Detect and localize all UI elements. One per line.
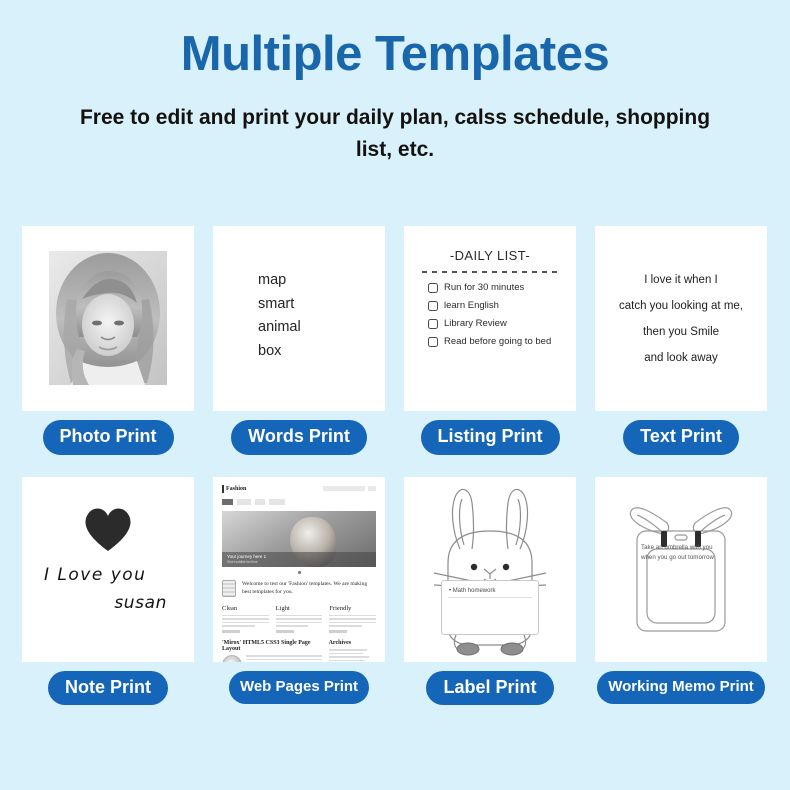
web-nav-item-about[interactable]	[237, 499, 251, 505]
checkbox-icon[interactable]	[428, 283, 438, 293]
web-archives-lines	[329, 649, 376, 661]
checklist-item[interactable]: Read before going to bed	[428, 336, 562, 347]
heart-icon	[80, 505, 136, 558]
web-nav-item-home[interactable]	[222, 499, 233, 505]
card-photo-print[interactable]	[22, 226, 194, 411]
checklist-label: Read before going to bed	[444, 336, 551, 347]
memo-badge-illustration	[595, 477, 767, 662]
text-print-button-wrap: Text Print	[595, 420, 767, 455]
web-archives-block: Archives	[329, 640, 376, 662]
web-article-lines	[246, 655, 322, 662]
search-icon[interactable]	[368, 486, 376, 491]
page-subtitle: Free to edit and print your daily plan, …	[0, 102, 790, 167]
web-nav	[222, 499, 376, 505]
words-print-button[interactable]: Words Print	[231, 420, 367, 455]
bunny-note-label: Math homework	[453, 588, 496, 594]
search-input[interactable]	[323, 486, 365, 491]
carousel-dot-icon[interactable]	[298, 571, 301, 574]
photo-print-button[interactable]: Photo Print	[43, 420, 174, 455]
template-cell-listing-print: -DAILY LIST- Run for 30 minutes learn En…	[404, 226, 576, 455]
article-thumbnail	[222, 655, 242, 662]
text-line: catch you looking at me,	[619, 300, 743, 312]
text-line: I love it when I	[644, 274, 718, 286]
web-welcome-block: Welcome to test our 'Fashion' templates.…	[222, 580, 376, 597]
web-archives-heading: Archives	[329, 640, 376, 646]
hero-caption-title: Your journey here 1	[227, 554, 266, 559]
card-note-print[interactable]: I Love you susan	[22, 477, 194, 662]
words-print-button-wrap: Words Print	[213, 420, 385, 455]
web-article-block: 'Mirox' HTML5 CSS3 Single Page Layout	[222, 640, 322, 662]
label-print-button-wrap: Label Print	[404, 671, 576, 706]
read-more-link[interactable]	[222, 630, 240, 633]
word-item: animal	[258, 316, 301, 340]
web-pages-print-button-wrap: Web Pages Print	[213, 671, 385, 704]
checkbox-icon[interactable]	[428, 337, 438, 347]
photo-frame	[39, 240, 177, 396]
bunny-note-box: • Math homework	[441, 580, 539, 635]
card-listing-print[interactable]: -DAILY LIST- Run for 30 minutes learn En…	[404, 226, 576, 411]
web-nav-item-contact[interactable]	[255, 499, 265, 505]
checklist-item[interactable]: learn English	[428, 300, 562, 311]
note-line-1: I Love you	[44, 565, 146, 585]
card-text-print[interactable]: I love it when I catch you looking at me…	[595, 226, 767, 411]
template-cell-photo-print: Photo Print	[22, 226, 194, 455]
daily-list: -DAILY LIST- Run for 30 minutes learn En…	[418, 248, 562, 354]
word-item: map	[258, 269, 301, 293]
portrait-photo	[49, 251, 167, 385]
card-web-pages-print[interactable]: Fashion Your journey here 1	[213, 477, 385, 662]
hero-caption-sub: Short subtitle text line	[227, 560, 257, 564]
web-hero-image: Your journey here 1 Short subtitle text …	[222, 511, 376, 567]
web-site-name: Fashion	[226, 486, 246, 492]
template-cell-web-pages-print: Fashion Your journey here 1	[213, 477, 385, 706]
photo-print-button-wrap: Photo Print	[22, 420, 194, 455]
web-column-lines	[276, 615, 323, 627]
template-cell-words-print: map smart animal box Words Print	[213, 226, 385, 455]
checkbox-icon[interactable]	[428, 301, 438, 311]
text-print-button[interactable]: Text Print	[623, 420, 739, 455]
web-column-title: Friendly	[329, 605, 376, 612]
bunny-note-text: • Math homework	[449, 588, 538, 594]
text-line: and look away	[644, 352, 718, 364]
working-memo-print-button-wrap: Working Memo Print	[595, 671, 767, 704]
daily-list-title: -DAILY LIST-	[418, 248, 562, 263]
word-item: box	[258, 340, 301, 364]
note-line-2: susan	[114, 593, 167, 613]
text-line: then you Smile	[643, 326, 719, 338]
web-column-title: Clean	[222, 605, 269, 612]
label-print-button[interactable]: Label Print	[426, 671, 553, 706]
listing-print-button[interactable]: Listing Print	[421, 420, 560, 455]
template-cell-label-print: • Math homework Label Print	[404, 477, 576, 706]
web-welcome-text: Welcome to test our 'Fashion' templates.…	[242, 580, 376, 597]
checklist-label: Run for 30 minutes	[444, 282, 524, 293]
bullet-icon: •	[449, 588, 451, 594]
note-print-button-wrap: Note Print	[22, 671, 194, 706]
template-grid: Photo Print map smart animal box Words P…	[22, 226, 768, 705]
note-rule	[448, 597, 532, 598]
checklist-label: learn English	[444, 300, 499, 311]
working-memo-print-button[interactable]: Working Memo Print	[597, 671, 765, 704]
page-header: Multiple Templates Free to edit and prin…	[0, 0, 790, 167]
checklist-item[interactable]: Run for 30 minutes	[428, 282, 562, 293]
card-working-memo-print[interactable]: Take an umbrella with you when you go ou…	[595, 477, 767, 662]
webpage-preview: Fashion Your journey here 1	[213, 477, 385, 662]
web-feature-column: Clean	[222, 605, 269, 633]
dashed-divider	[422, 271, 558, 273]
word-list: map smart animal box	[258, 269, 301, 364]
web-article-heading: 'Mirox' HTML5 CSS3 Single Page Layout	[222, 640, 322, 652]
checkbox-icon[interactable]	[428, 319, 438, 329]
template-cell-note-print: I Love you susan Note Print	[22, 477, 194, 706]
card-label-print[interactable]: • Math homework	[404, 477, 576, 662]
memo-text: Take an umbrella with you when you go ou…	[641, 543, 726, 565]
document-icon	[222, 580, 236, 597]
web-nav-item-portfolio[interactable]	[269, 499, 285, 505]
web-feature-column: Light	[276, 605, 323, 633]
checklist-label: Library Review	[444, 318, 507, 329]
template-cell-text-print: I love it when I catch you looking at me…	[595, 226, 767, 455]
checklist-item[interactable]: Library Review	[428, 318, 562, 329]
web-pages-print-button[interactable]: Web Pages Print	[229, 671, 369, 704]
page-title: Multiple Templates	[0, 28, 790, 82]
web-bottom-section: 'Mirox' HTML5 CSS3 Single Page Layout Ar…	[222, 640, 376, 662]
web-column-lines	[329, 615, 376, 627]
text-lines: I love it when I catch you looking at me…	[595, 226, 767, 411]
web-logo: Fashion	[222, 485, 246, 493]
word-item: smart	[258, 293, 301, 317]
web-feature-columns: Clean Light Friendly	[222, 605, 376, 633]
web-topbar: Fashion	[222, 485, 376, 493]
read-more-link[interactable]	[329, 630, 347, 633]
web-column-lines	[222, 615, 269, 627]
web-feature-column: Friendly	[329, 605, 376, 633]
logo-bar-icon	[222, 485, 224, 493]
web-column-title: Light	[276, 605, 323, 612]
note-print-button[interactable]: Note Print	[48, 671, 168, 706]
listing-print-button-wrap: Listing Print	[404, 420, 576, 455]
read-more-link[interactable]	[276, 630, 294, 633]
template-cell-working-memo-print: Take an umbrella with you when you go ou…	[595, 477, 767, 706]
card-words-print[interactable]: map smart animal box	[213, 226, 385, 411]
